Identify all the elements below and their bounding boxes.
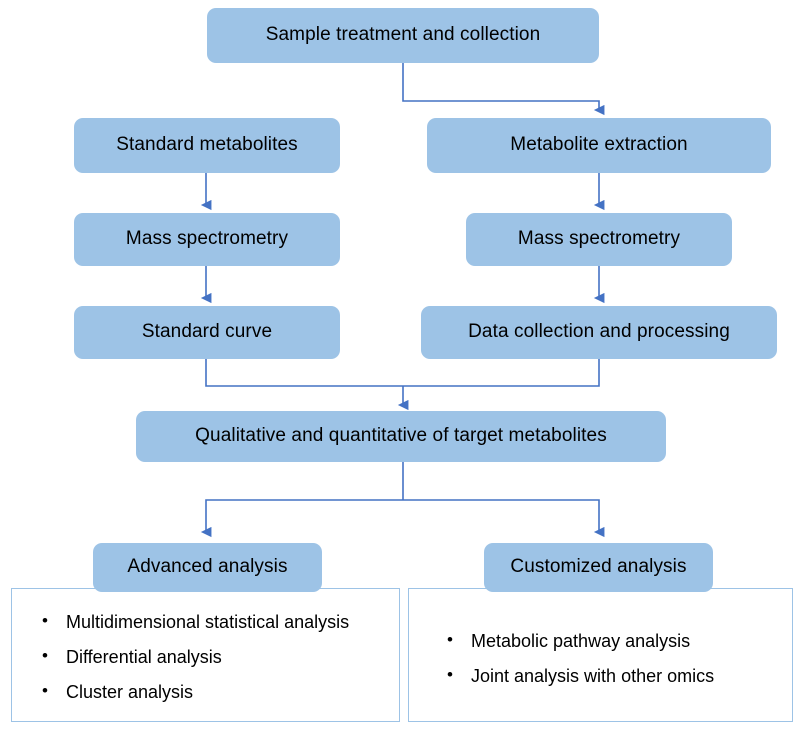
list-item: Cluster analysis: [28, 683, 399, 701]
node-label: Standard curve: [142, 322, 272, 343]
node-metabolite-extraction[interactable]: Metabolite extraction: [427, 118, 771, 173]
edge-qualitative-to-advanced: [206, 500, 403, 532]
flowchart-canvas: Multidimensional statistical analysis Di…: [0, 0, 804, 733]
node-mass-spectrometry-right[interactable]: Mass spectrometry: [466, 213, 732, 266]
list-item: Metabolic pathway analysis: [433, 632, 792, 650]
edge-sample-to-extraction: [403, 63, 599, 110]
list-item: Joint analysis with other omics: [433, 667, 792, 685]
node-label: Qualitative and quantitative of target m…: [195, 426, 607, 447]
node-label: Advanced analysis: [127, 557, 287, 578]
edge-data-collection-merge: [403, 359, 599, 386]
edge-standard-curve-merge: [206, 359, 403, 386]
node-label: Mass spectrometry: [518, 229, 680, 250]
list-item: Differential analysis: [28, 648, 399, 666]
advanced-analysis-list: Multidimensional statistical analysis Di…: [28, 613, 399, 701]
node-label: Data collection and processing: [468, 322, 730, 343]
node-label: Mass spectrometry: [126, 229, 288, 250]
list-item: Multidimensional statistical analysis: [28, 613, 399, 631]
node-data-collection[interactable]: Data collection and processing: [421, 306, 777, 359]
node-customized-analysis[interactable]: Customized analysis: [484, 543, 713, 592]
node-standard-metabolites[interactable]: Standard metabolites: [74, 118, 340, 173]
node-label: Customized analysis: [510, 557, 686, 578]
node-sample-treatment[interactable]: Sample treatment and collection: [207, 8, 599, 63]
customized-analysis-list: Metabolic pathway analysis Joint analysi…: [433, 632, 792, 685]
node-label: Sample treatment and collection: [266, 25, 541, 46]
customized-analysis-list-panel: Metabolic pathway analysis Joint analysi…: [408, 588, 793, 722]
node-standard-curve[interactable]: Standard curve: [74, 306, 340, 359]
edge-qualitative-to-customized: [403, 500, 599, 532]
node-label: Standard metabolites: [116, 135, 298, 156]
node-label: Metabolite extraction: [510, 135, 687, 156]
node-advanced-analysis[interactable]: Advanced analysis: [93, 543, 322, 592]
advanced-analysis-list-panel: Multidimensional statistical analysis Di…: [11, 588, 400, 722]
node-mass-spectrometry-left[interactable]: Mass spectrometry: [74, 213, 340, 266]
node-qualitative-quantitative[interactable]: Qualitative and quantitative of target m…: [136, 411, 666, 462]
